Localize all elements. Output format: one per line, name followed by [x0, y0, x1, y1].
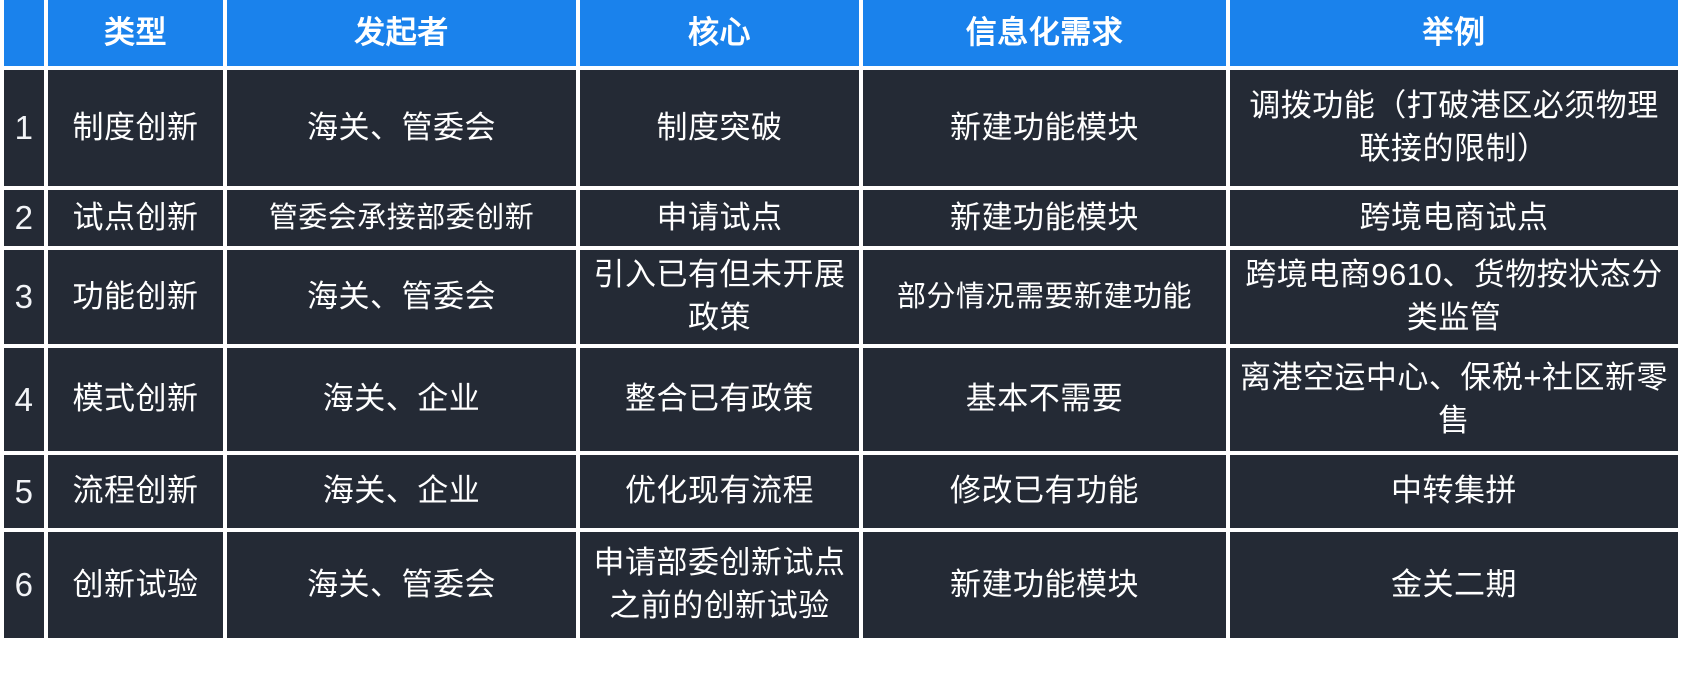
- row-index: 1: [0, 70, 48, 190]
- cell-type: 创新试验: [48, 532, 227, 642]
- header-example: 举例: [1230, 0, 1682, 70]
- row-index: 4: [0, 348, 48, 455]
- row-index: 6: [0, 532, 48, 642]
- cell-example: 中转集拼: [1230, 455, 1682, 532]
- row-index: 5: [0, 455, 48, 532]
- cell-it-need: 基本不需要: [863, 348, 1230, 455]
- table-row: 3 功能创新 海关、管委会 引入已有但未开展政策 部分情况需要新建功能 跨境电商…: [0, 250, 1682, 348]
- comparison-table: 类型 发起者 核心 信息化需求 举例 1 制度创新 海关、管委会 制度突破 新建…: [0, 0, 1682, 642]
- cell-initiator: 海关、企业: [227, 348, 580, 455]
- cell-initiator: 海关、企业: [227, 455, 580, 532]
- table-row: 4 模式创新 海关、企业 整合已有政策 基本不需要 离港空运中心、保税+社区新零…: [0, 348, 1682, 455]
- innovation-type-table: 类型 发起者 核心 信息化需求 举例 1 制度创新 海关、管委会 制度突破 新建…: [0, 0, 1682, 687]
- cell-core: 申请部委创新试点之前的创新试验: [580, 532, 863, 642]
- cell-core: 优化现有流程: [580, 455, 863, 532]
- cell-type: 流程创新: [48, 455, 227, 532]
- cell-core: 制度突破: [580, 70, 863, 190]
- cell-example: 跨境电商9610、货物按状态分类监管: [1230, 250, 1682, 348]
- cell-it-need: 新建功能模块: [863, 532, 1230, 642]
- cell-type: 制度创新: [48, 70, 227, 190]
- cell-example: 金关二期: [1230, 532, 1682, 642]
- cell-example: 离港空运中心、保税+社区新零售: [1230, 348, 1682, 455]
- table-row: 1 制度创新 海关、管委会 制度突破 新建功能模块 调拨功能（打破港区必须物理联…: [0, 70, 1682, 190]
- header-initiator: 发起者: [227, 0, 580, 70]
- cell-initiator: 海关、管委会: [227, 250, 580, 348]
- table-row: 5 流程创新 海关、企业 优化现有流程 修改已有功能 中转集拼: [0, 455, 1682, 532]
- header-row: 类型 发起者 核心 信息化需求 举例: [0, 0, 1682, 70]
- cell-example: 调拨功能（打破港区必须物理联接的限制）: [1230, 70, 1682, 190]
- cell-type: 试点创新: [48, 190, 227, 250]
- row-index: 3: [0, 250, 48, 348]
- header-type: 类型: [48, 0, 227, 70]
- header-index: [0, 0, 48, 70]
- cell-initiator: 管委会承接部委创新: [227, 190, 580, 250]
- table-body: 1 制度创新 海关、管委会 制度突破 新建功能模块 调拨功能（打破港区必须物理联…: [0, 70, 1682, 642]
- cell-it-need: 新建功能模块: [863, 70, 1230, 190]
- cell-example: 跨境电商试点: [1230, 190, 1682, 250]
- cell-core: 申请试点: [580, 190, 863, 250]
- cell-type: 功能创新: [48, 250, 227, 348]
- cell-it-need: 新建功能模块: [863, 190, 1230, 250]
- header-core: 核心: [580, 0, 863, 70]
- table-header: 类型 发起者 核心 信息化需求 举例: [0, 0, 1682, 70]
- cell-it-need: 部分情况需要新建功能: [863, 250, 1230, 348]
- header-it-need: 信息化需求: [863, 0, 1230, 70]
- cell-initiator: 海关、管委会: [227, 70, 580, 190]
- cell-initiator: 海关、管委会: [227, 532, 580, 642]
- cell-it-need: 修改已有功能: [863, 455, 1230, 532]
- table-row: 2 试点创新 管委会承接部委创新 申请试点 新建功能模块 跨境电商试点: [0, 190, 1682, 250]
- cell-type: 模式创新: [48, 348, 227, 455]
- cell-core: 引入已有但未开展政策: [580, 250, 863, 348]
- cell-core: 整合已有政策: [580, 348, 863, 455]
- row-index: 2: [0, 190, 48, 250]
- table-row: 6 创新试验 海关、管委会 申请部委创新试点之前的创新试验 新建功能模块 金关二…: [0, 532, 1682, 642]
